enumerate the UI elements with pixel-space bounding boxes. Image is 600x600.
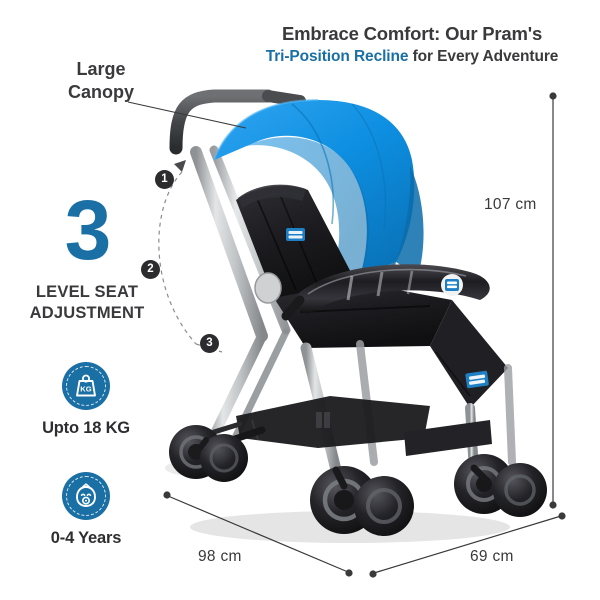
canopy-brand-badge [286,196,306,210]
recline-step-3: 3 [200,334,219,353]
seat-level-caption: LEVEL SEAT ADJUSTMENT [4,282,170,324]
recline-step-2: 2 [141,260,160,279]
weight-kg-icon: KG [62,362,110,410]
canopy-label-line2: Canopy [42,81,160,104]
wheel-rear [169,425,248,482]
age-badge-circle [62,472,110,520]
infographic-canvas: Embrace Comfort: Our Pram's Tri-Position… [0,0,600,600]
recline-step-1: 1 [155,170,174,189]
weight-badge-label: Upto 18 KG [16,419,156,438]
wheel-front-right [454,454,547,517]
title-rest-text: for Every Adventure [408,48,558,65]
storage-basket [236,396,430,448]
dimension-width-label: 69 cm [470,548,514,566]
badge-age: 0-4 Years [16,472,156,548]
weight-badge-circle: KG [62,362,110,410]
callout-large-canopy: Large Canopy [42,58,160,104]
width-dimension-line [374,516,561,573]
dimension-length-label: 98 cm [198,548,242,566]
svg-text:KG: KG [80,384,91,393]
title-line-1: Embrace Comfort: Our Pram's [236,22,588,46]
length-dimension-line [168,496,348,572]
baby-face-icon [62,472,110,520]
seat-brand-badge [286,228,305,241]
recline-arrow-head [174,160,186,172]
seat-caption-line2: ADJUSTMENT [4,303,170,324]
age-badge-label: 0-4 Years [16,529,156,548]
canopy-leader-line [128,102,246,128]
title-line-2: Tri-Position Recline for Every Adventure [236,46,588,68]
dimension-height-label: 107 cm [484,196,537,214]
badge-weight: KG Upto 18 KG [16,362,156,438]
canopy-label-line1: Large [42,58,160,81]
seat-caption-line1: LEVEL SEAT [4,282,170,303]
seat-level-number: 3 [22,188,152,272]
title-accent-text: Tri-Position Recline [266,48,409,65]
wheel-front-left [310,466,414,536]
footrest-brand-badge [465,371,489,389]
header-title: Embrace Comfort: Our Pram's Tri-Position… [236,22,588,68]
